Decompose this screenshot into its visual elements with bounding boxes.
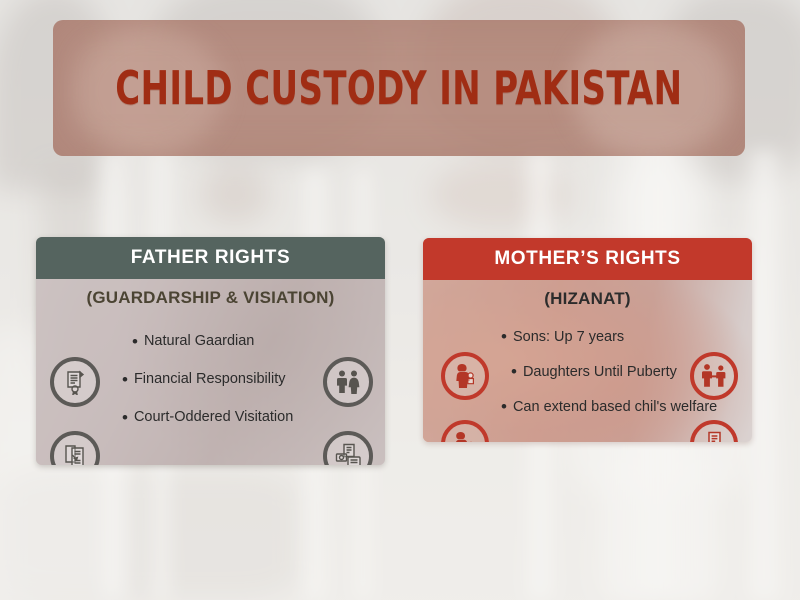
card-father-header: FATHER RIGHTS (36, 237, 385, 279)
card-mother-subtitle: (HIZANAT) (423, 280, 752, 309)
page-title: CHILD CUSTODY IN PAKISTAN (115, 61, 682, 115)
bullet-dot-icon: • (511, 363, 517, 380)
list-item: • Court-Oddered Visitation (36, 398, 385, 436)
man-woman-pair-icon (323, 357, 373, 407)
card-mother-rights: MOTHER’S RIGHTS (HIZANAT) • Sons: Up 7 y… (423, 238, 752, 442)
bullet-dot-icon: • (132, 333, 138, 350)
card-mother-header-label: MOTHER’S RIGHTS (494, 248, 680, 270)
list-item: • Sons: Up 7 years (423, 319, 752, 354)
infographic-canvas: CHILD CUSTODY IN PAKISTAN FATHER RIGHTS … (0, 0, 800, 600)
certificate-seal-icon (50, 357, 100, 407)
list-item-label: Financial Responsibility (134, 371, 286, 387)
card-father-body: (GUARDARSHIP & VISIATION) • Natural Gaar… (36, 279, 385, 465)
signed-document-icon (50, 431, 100, 465)
bullet-dot-icon: • (122, 371, 128, 388)
list-item-label: Sons: Up 7 years (513, 329, 624, 345)
parent-child-handover-icon (690, 352, 738, 400)
documents-money-icon (323, 431, 373, 465)
mother-holding-baby-icon (441, 352, 489, 400)
bullet-dot-icon: • (122, 409, 128, 426)
list-item-label: Daughters Until Puberty (523, 364, 677, 380)
list-item: • Natural Gaardian (36, 322, 385, 360)
card-father-header-label: FATHER RIGHTS (131, 247, 290, 269)
bullet-dot-icon: • (501, 328, 507, 345)
bullet-dot-icon: • (501, 398, 507, 415)
list-item-label: Can extend based chil's welfare (513, 399, 717, 415)
list-item-label: Court-Oddered Visitation (134, 409, 293, 425)
title-banner: CHILD CUSTODY IN PAKISTAN (53, 20, 745, 156)
card-father-subtitle: (GUARDARSHIP & VISIATION) (36, 279, 385, 308)
list-item-label: Natural Gaardian (144, 333, 254, 349)
card-mother-header: MOTHER’S RIGHTS (423, 238, 752, 280)
card-father-rights: FATHER RIGHTS (GUARDARSHIP & VISIATION) … (36, 237, 385, 465)
card-mother-body: (HIZANAT) • Sons: Up 7 years • Daughters… (423, 280, 752, 442)
